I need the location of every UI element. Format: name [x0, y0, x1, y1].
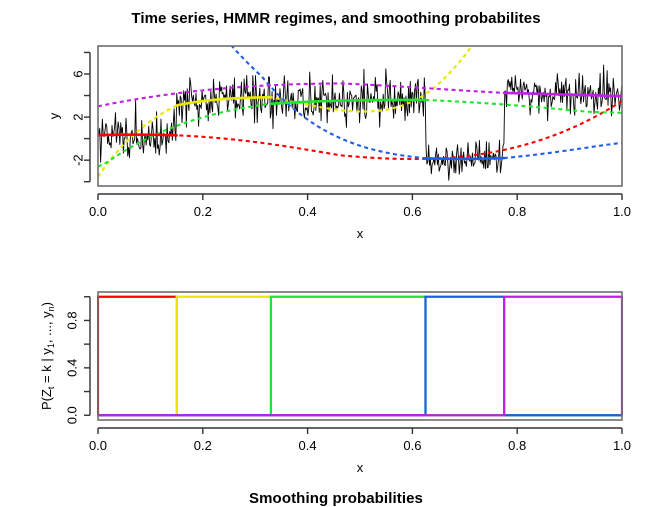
x-tick-label: 0.8: [508, 438, 526, 453]
x-tick-label: 0.2: [194, 204, 212, 219]
y-axis-label: y: [47, 112, 62, 119]
bottom-panel: Smoothing probabilities 0.00.20.40.60.81…: [0, 240, 672, 480]
x-tick-label: 0.4: [299, 438, 317, 453]
y-axis-label: P(Zt = k | y1, ..., yn): [39, 302, 57, 410]
x-tick-label: 1.0: [613, 204, 631, 219]
y-tick-label: 0.8: [65, 311, 80, 329]
observed-series: [98, 65, 622, 180]
x-tick-label: 1.0: [613, 438, 631, 453]
x-axis-label: x: [357, 226, 364, 240]
regime-1-fit: [98, 135, 177, 136]
y-tick-label: -2: [71, 154, 86, 166]
x-tick-label: 0.2: [194, 438, 212, 453]
y-tick-label: 0.4: [65, 359, 80, 377]
figure-root: Time series, HMMR regimes, and smoothing…: [0, 0, 672, 480]
x-tick-label: 0.6: [403, 438, 421, 453]
regime-4-fit: [426, 158, 505, 159]
y-tick-label: 0.0: [65, 406, 80, 424]
timeseries-plot: 0.00.20.40.60.81.0x-226y: [0, 0, 672, 240]
y-tick-label: 6: [71, 70, 86, 77]
x-tick-label: 0.0: [89, 204, 107, 219]
x-tick-label: 0.4: [299, 204, 317, 219]
regime-4-extrapolation: [98, 14, 622, 159]
x-tick-label: 0.6: [403, 204, 421, 219]
bottom-panel-title: Smoothing probabilities: [0, 490, 672, 507]
probability-step-2: [98, 297, 622, 416]
top-panel: Time series, HMMR regimes, and smoothing…: [0, 0, 672, 240]
x-tick-label: 0.8: [508, 204, 526, 219]
x-tick-label: 0.0: [89, 438, 107, 453]
x-axis-label: x: [357, 460, 364, 475]
smoothing-probabilities-plot: 0.00.20.40.60.81.0x0.00.40.8P(Zt = k | y…: [0, 240, 672, 480]
y-tick-label: 2: [71, 113, 86, 120]
